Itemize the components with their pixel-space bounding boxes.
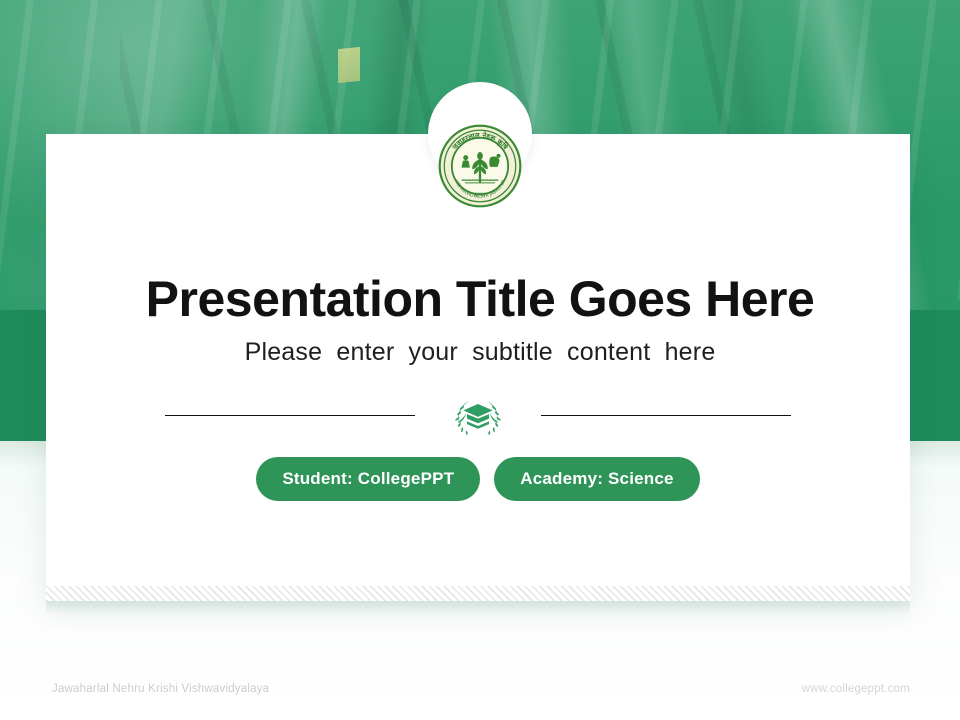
pill-student[interactable]: Student: CollegePPT bbox=[256, 457, 480, 501]
svg-text:1964: 1964 bbox=[474, 192, 485, 198]
card-hatch-shadow bbox=[46, 601, 910, 615]
meta-pill-group: Student: CollegePPT Academy: Science bbox=[46, 457, 910, 501]
graduation-cap-laurel-icon bbox=[450, 393, 506, 437]
divider bbox=[46, 393, 910, 437]
slide-title: Presentation Title Goes Here bbox=[0, 272, 960, 326]
footer-institution: Jawaharlal Nehru Krishi Vishwavidyalaya bbox=[52, 683, 269, 695]
pill-academy[interactable]: Academy: Science bbox=[494, 457, 699, 501]
presentation-slide: जवाहरलाल नेहरू कृषि VISHWAVIDYALAYA JABA… bbox=[0, 0, 960, 720]
card-hatch-strip bbox=[46, 586, 910, 601]
divider-rule-left bbox=[165, 415, 415, 416]
university-seal-icon: जवाहरलाल नेहरू कृषि VISHWAVIDYALAYA JABA… bbox=[438, 124, 522, 208]
divider-rule-right bbox=[541, 415, 791, 416]
hero-photo-sign bbox=[338, 47, 360, 83]
slide-subtitle: Please enter your subtitle content here bbox=[0, 338, 960, 367]
footer-website: www.collegeppt.com bbox=[802, 683, 910, 695]
